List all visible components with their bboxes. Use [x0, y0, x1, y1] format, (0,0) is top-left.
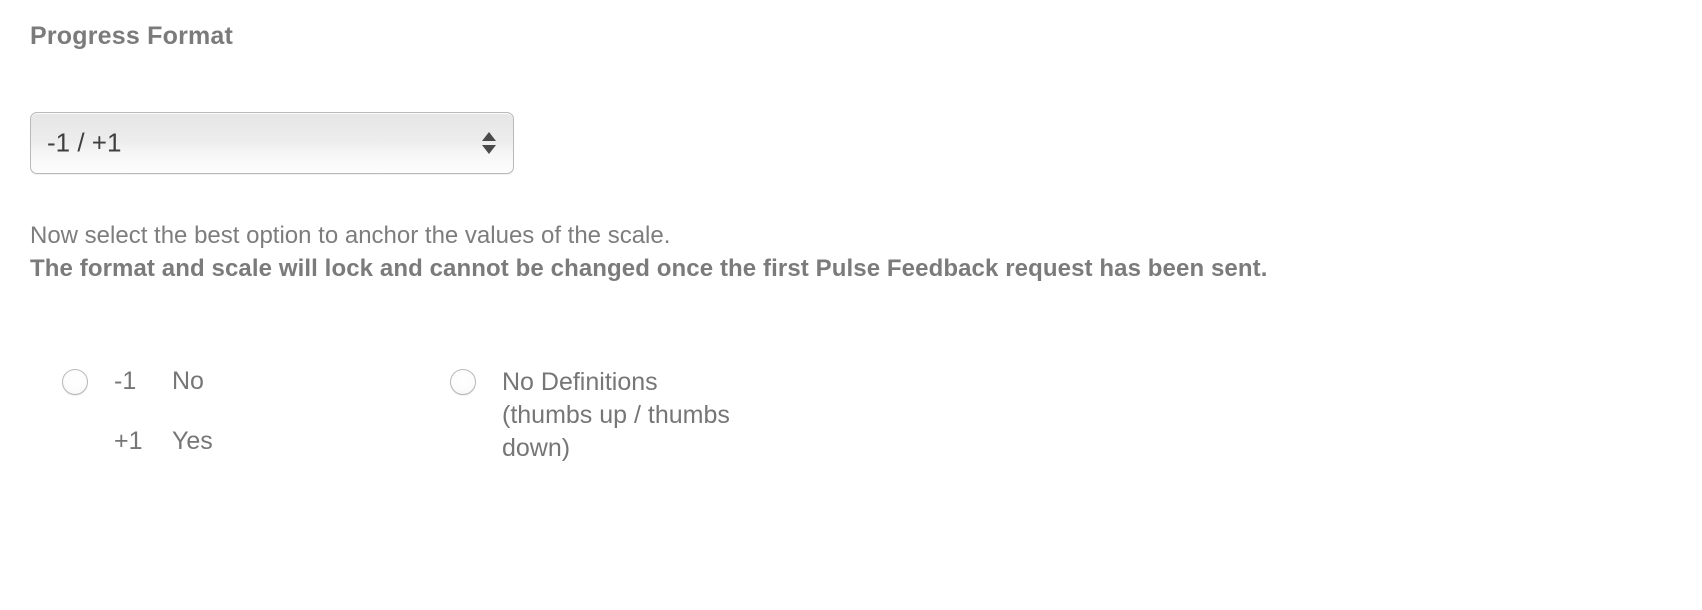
progress-format-select[interactable]: -1 / +1	[30, 112, 514, 174]
anchor-option-no-definitions-label: No Definitions (thumbs up / thumbs down)	[502, 366, 742, 465]
instruction-line-primary: Now select the best option to anchor the…	[30, 219, 1670, 252]
scale-value-negative: -1	[114, 366, 172, 396]
progress-format-selected-value: -1 / +1	[47, 128, 121, 159]
anchor-options-group: -1 No +1 Yes No Definitions (thumbs up /…	[0, 358, 1702, 538]
progress-format-select-wrapper[interactable]: -1 / +1	[30, 112, 514, 174]
instructions-block: Now select the best option to anchor the…	[30, 219, 1670, 285]
select-stepper-arrows[interactable]	[481, 126, 497, 160]
triangle-down-icon[interactable]	[482, 145, 496, 154]
scale-value-positive: +1	[114, 426, 172, 456]
progress-format-page: Progress Format -1 / +1 Now select the b…	[0, 0, 1702, 610]
triangle-up-icon[interactable]	[482, 132, 496, 141]
scale-word-negative: No	[172, 366, 213, 396]
anchor-option-no-definitions[interactable]: No Definitions (thumbs up / thumbs down)	[450, 366, 742, 465]
instruction-line-warning: The format and scale will lock and canno…	[30, 252, 1670, 285]
scale-word-positive: Yes	[172, 426, 213, 456]
radio-button-no-yes[interactable]	[62, 369, 88, 395]
page-title: Progress Format	[30, 22, 233, 51]
scale-values-table: -1 No +1 Yes	[114, 366, 213, 456]
anchor-option-no-yes[interactable]: -1 No +1 Yes	[62, 366, 213, 456]
radio-button-no-definitions[interactable]	[450, 369, 476, 395]
